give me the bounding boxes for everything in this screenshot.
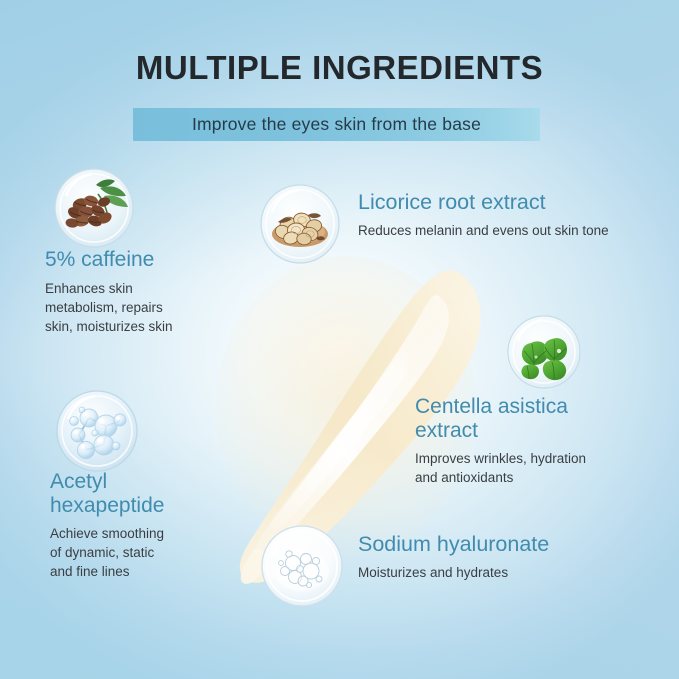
ingredient-description-sodium: Moisturizes and hydrates [358,563,638,582]
subtitle-banner: Improve the eyes skin from the base [133,108,540,141]
page-title: MULTIPLE INGREDIENTS [0,49,679,87]
molecule-bubbles-dish-icon [54,388,140,474]
ingredient-block-acetyl: Acetyl hexapeptide Achieve smoothing of … [50,470,230,582]
ingredients-poster: MULTIPLE INGREDIENTS Improve the eyes sk… [0,0,679,679]
ingredient-description-caffeine: Enhances skin metabolism, repairs skin, … [45,279,235,336]
ingredient-description-licorice: Reduces melanin and evens out skin tone [358,221,658,240]
ingredient-name-centella: Centella asistica extract [415,395,640,442]
ingredient-description-centella: Improves wrinkles, hydration and antioxi… [415,449,640,487]
ingredient-block-licorice: Licorice root extract Reduces melanin an… [358,190,658,240]
ingredient-name-acetyl: Acetyl hexapeptide [50,470,230,517]
ingredient-block-sodium: Sodium hyaluronate Moisturizes and hydra… [358,532,638,582]
coffee-beans-dish-icon [52,166,136,250]
ingredient-block-centella: Centella asistica extract Improves wrink… [415,395,640,487]
ingredient-name-licorice: Licorice root extract [358,190,658,214]
ingredient-block-caffeine: 5% caffeine Enhances skin metabolism, re… [45,248,235,336]
subtitle-text: Improve the eyes skin from the base [192,114,481,135]
ingredient-description-acetyl: Achieve smoothing of dynamic, static and… [50,524,230,581]
green-leaves-dish-icon [505,313,583,391]
clear-gel-bubbles-dish-icon [259,523,345,609]
ingredient-name-caffeine: 5% caffeine [45,248,235,272]
ingredient-name-sodium: Sodium hyaluronate [358,532,638,556]
licorice-root-slices-dish-icon [258,182,342,266]
